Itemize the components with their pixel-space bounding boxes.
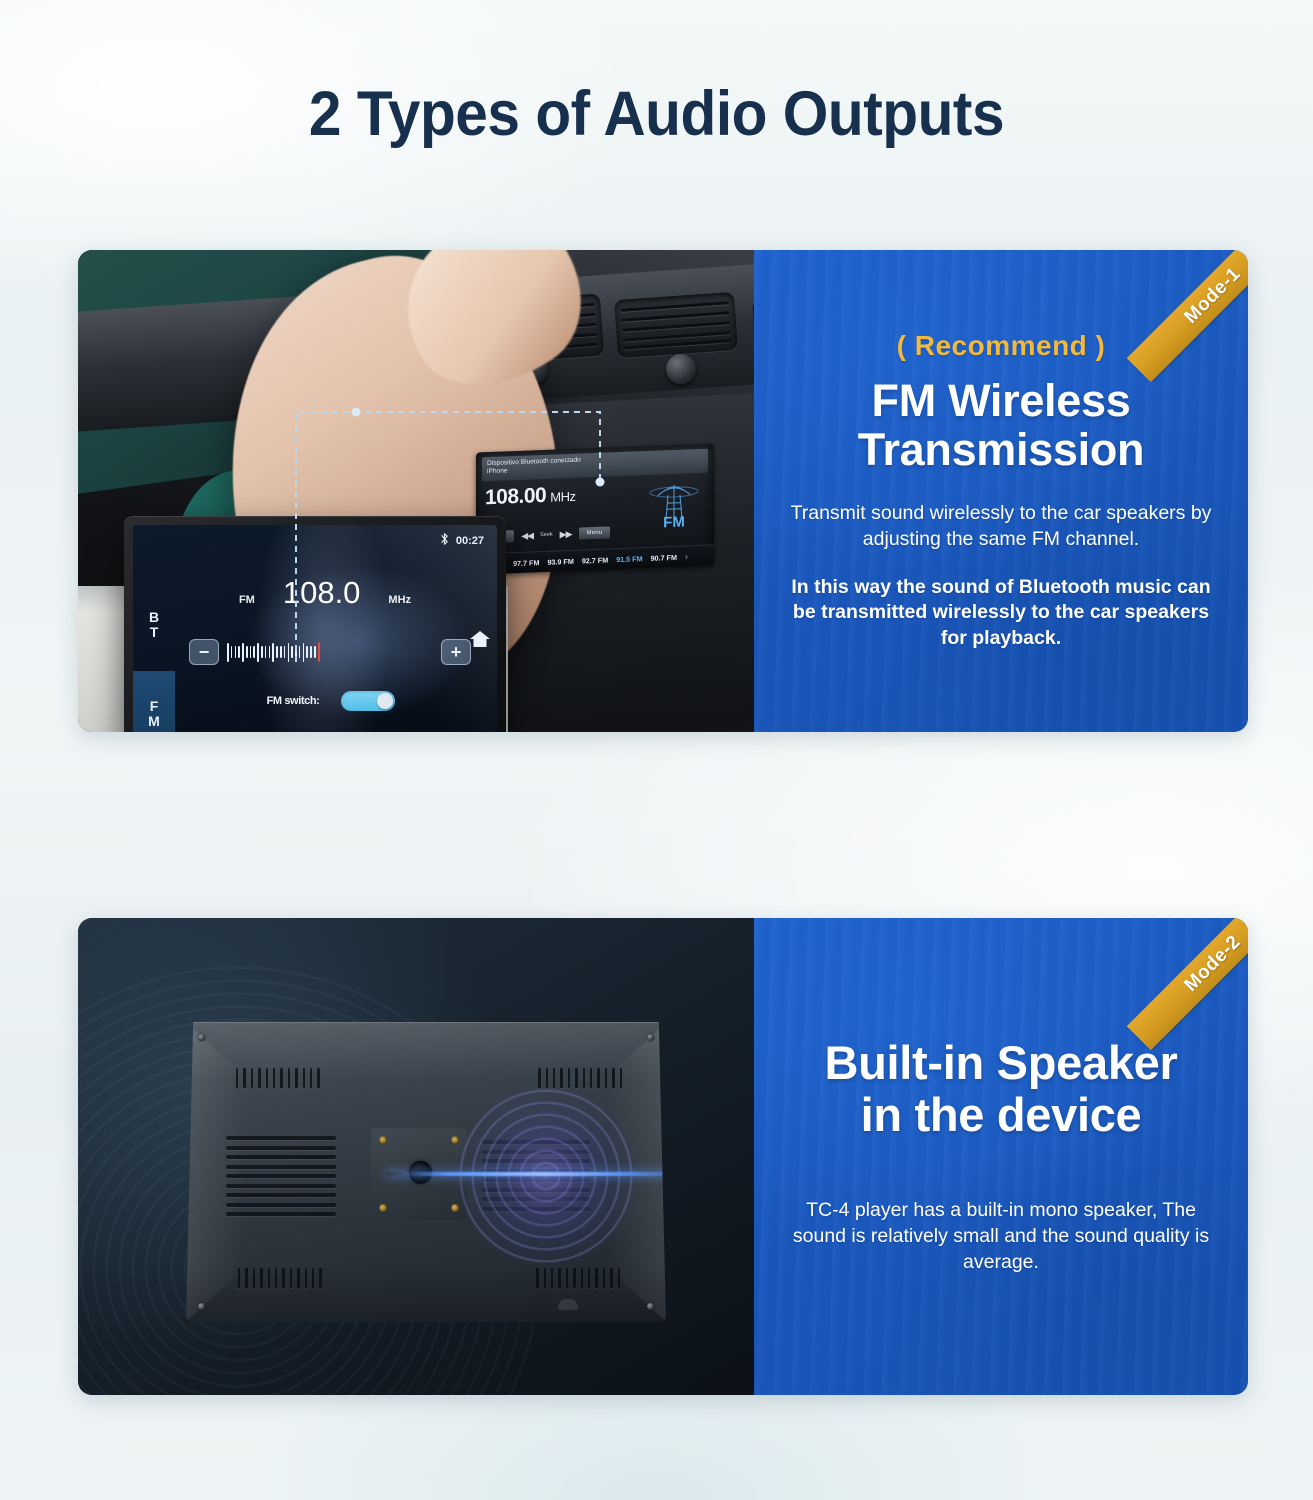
mode-2-card: Built-in Speaker in the device TC-4 play… bbox=[78, 918, 1248, 1395]
device-fm-panel: FM 108.0 MHz − bbox=[175, 551, 497, 732]
previous-track-icon[interactable]: ◀◀ bbox=[521, 530, 533, 541]
device-status-bar: 00:27 bbox=[439, 532, 484, 549]
mode-2-info-pane: Built-in Speaker in the device TC-4 play… bbox=[754, 918, 1248, 1395]
mode-1-body-2: In this way the sound of Bluetooth music… bbox=[786, 575, 1216, 653]
mode-1-card: Dispositivo Bluetooth conectado iPhone 1… bbox=[78, 250, 1248, 732]
tab-fm-line2: M bbox=[148, 714, 160, 729]
car-interior-scene: Dispositivo Bluetooth conectado iPhone 1… bbox=[78, 250, 754, 732]
mode-1-info-pane: ( Recommend ) FM Wireless Transmission T… bbox=[754, 250, 1248, 732]
recommend-eyebrow: ( Recommend ) bbox=[897, 330, 1106, 362]
device-rear-housing bbox=[186, 1022, 666, 1322]
vent-slots-top-left bbox=[236, 1068, 320, 1088]
preset-item[interactable]: 90.7 FM bbox=[651, 552, 677, 562]
preset-item[interactable]: 93.9 FM bbox=[547, 556, 573, 566]
mode-1-photo: Dispositivo Bluetooth conectado iPhone 1… bbox=[78, 250, 754, 732]
speaker-glow bbox=[454, 1084, 638, 1268]
next-track-icon[interactable]: ▶▶ bbox=[560, 528, 572, 539]
sound-wave-line bbox=[386, 1172, 666, 1176]
toggle-knob bbox=[377, 693, 393, 709]
mode-2-heading-line1: Built-in Speaker bbox=[824, 1037, 1177, 1089]
mode-1-body-1: Transmit sound wirelessly to the car spe… bbox=[786, 501, 1216, 553]
device-frequency-unit: MHz bbox=[388, 594, 411, 606]
mode-2-heading-line2: in the device bbox=[824, 1089, 1177, 1141]
mode-2-photo bbox=[78, 918, 754, 1395]
car-radio-display: Dispositivo Bluetooth conectado iPhone 1… bbox=[476, 443, 714, 574]
chevron-right-icon[interactable]: › bbox=[685, 551, 688, 561]
car-radio-button-row: Tune ◀◀ Seek ▶▶ Menu bbox=[484, 520, 706, 547]
device-fm-switch-row: FM switch: bbox=[235, 691, 427, 711]
frequency-decrease-button[interactable]: − bbox=[189, 639, 219, 665]
tab-bt-line2: T bbox=[150, 625, 159, 640]
tab-bt-line1: B bbox=[149, 610, 159, 625]
mode-2-heading: Built-in Speaker in the device bbox=[824, 1037, 1177, 1140]
preset-item[interactable]: 97.7 FM bbox=[513, 558, 539, 568]
page-title: 2 Types of Audio Outputs bbox=[46, 78, 1267, 150]
device-clock: 00:27 bbox=[456, 535, 484, 547]
mode-1-heading: FM Wireless Transmission bbox=[858, 376, 1145, 475]
car-radio-frequency: 108.00MHz bbox=[485, 483, 575, 510]
frequency-scale bbox=[227, 641, 433, 663]
seek-label: Seek bbox=[540, 532, 553, 538]
tc4-player-device: 00:27 B T F M FM bbox=[124, 516, 506, 732]
device-frequency-value: 108.0 bbox=[283, 575, 361, 611]
vent-slots-bottom-right bbox=[536, 1268, 620, 1288]
device-band-label: FM bbox=[239, 594, 255, 606]
home-icon[interactable] bbox=[469, 629, 491, 654]
vent-slots-bottom-left bbox=[238, 1268, 322, 1288]
mode-2-body-1: TC-4 player has a built-in mono speaker,… bbox=[784, 1198, 1218, 1276]
tab-fm[interactable]: F M bbox=[133, 671, 175, 732]
car-radio-menu-button[interactable]: Menu bbox=[579, 526, 611, 539]
preset-item-selected[interactable]: 91.5 FM bbox=[616, 554, 642, 564]
device-source-tabs: B T F M bbox=[133, 551, 175, 732]
device-back-scene bbox=[78, 918, 754, 1395]
frequency-increase-button[interactable]: + bbox=[441, 639, 471, 665]
tab-fm-line1: F bbox=[150, 699, 159, 714]
air-vent-center-icon bbox=[614, 292, 738, 358]
device-frequency-row: FM 108.0 MHz bbox=[175, 575, 475, 611]
car-radio-frequency-unit: MHz bbox=[550, 489, 575, 505]
car-radio-frequency-value: 108.00 bbox=[485, 484, 546, 509]
heat-sink-slats-left bbox=[226, 1136, 336, 1216]
fm-switch-toggle[interactable] bbox=[341, 691, 395, 711]
vent-knob-right bbox=[666, 354, 696, 384]
device-screen: 00:27 B T F M FM bbox=[133, 525, 497, 732]
mode-1-heading-line2: Transmission bbox=[858, 425, 1145, 475]
fm-switch-label: FM switch: bbox=[267, 695, 320, 707]
bluetooth-icon bbox=[439, 532, 450, 549]
housing-nub bbox=[558, 1299, 578, 1310]
tab-bt[interactable]: B T bbox=[133, 595, 175, 655]
device-tuning-row: − + bbox=[189, 639, 471, 665]
mode-1-heading-line1: FM Wireless bbox=[858, 376, 1145, 426]
preset-item[interactable]: 92.7 FM bbox=[582, 555, 608, 565]
